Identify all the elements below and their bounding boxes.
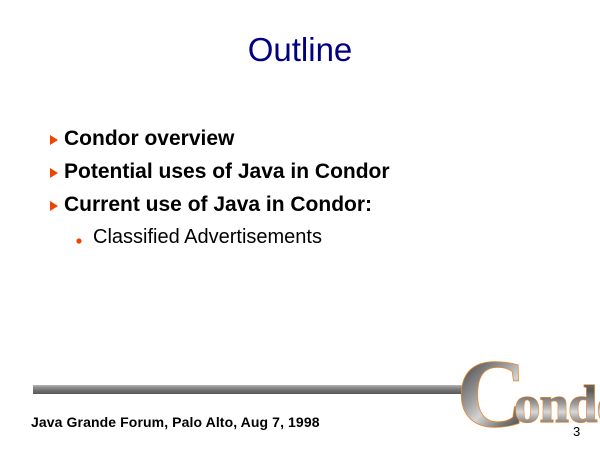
bullet-item-label: Potential uses of Java in Condor xyxy=(64,160,390,184)
dot-bullet-icon xyxy=(75,236,93,246)
presentation-slide: Outline Condor overview Potential uses o… xyxy=(0,0,600,450)
bullet-item-current-use: Current use of Java in Condor: xyxy=(48,193,568,226)
slide-title: Outline xyxy=(0,30,600,70)
svg-text:ondor: ondor xyxy=(514,376,600,434)
page-number: 3 xyxy=(573,424,580,439)
footer-divider-bar xyxy=(33,385,465,394)
triangle-bullet-icon xyxy=(48,167,64,179)
bullet-item-classified-advertisements: Classified Advertisements xyxy=(48,226,568,256)
triangle-bullet-icon xyxy=(48,200,64,212)
outline-bullet-list: Condor overview Potential uses of Java i… xyxy=(48,127,568,256)
bullet-item-label: Condor overview xyxy=(64,127,234,151)
triangle-bullet-icon xyxy=(48,134,64,146)
bullet-item-label: Classified Advertisements xyxy=(93,226,322,249)
bullet-item-potential-uses: Potential uses of Java in Condor xyxy=(48,160,568,193)
footer-conference-text: Java Grande Forum, Palo Alto, Aug 7, 199… xyxy=(31,414,320,430)
bullet-item-condor-overview: Condor overview xyxy=(48,127,568,160)
bullet-item-label: Current use of Java in Condor: xyxy=(64,193,372,217)
